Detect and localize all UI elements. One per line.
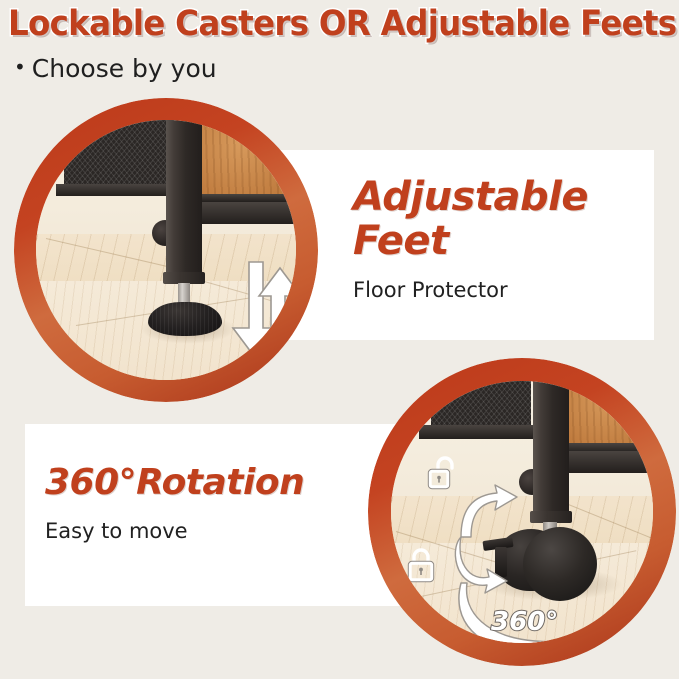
shelf-leg-2	[533, 381, 569, 517]
up-down-arrows-icon	[231, 260, 296, 365]
metal-mesh-panel	[64, 120, 174, 192]
rotation-badge: 360°	[491, 609, 558, 635]
photo-scene-2: 360°	[391, 381, 653, 643]
shelf-frame-bar-lower-2	[557, 451, 653, 473]
photo-scene	[36, 120, 296, 380]
adjustable-feet-title: AdjustableFeet	[353, 175, 588, 263]
wood-shelf-board-2	[559, 381, 653, 448]
shelf-leg	[166, 120, 202, 278]
header: Lockable Casters OR Adjustable Feets •Ch…	[0, 0, 679, 92]
page-subtitle-text: Choose by you	[32, 54, 217, 83]
adjustable-feet-photo	[14, 98, 318, 402]
rotation-title: 360°Rotation	[45, 462, 304, 504]
mesh-frame-bar-2	[419, 425, 539, 439]
adjustable-foot-pad	[148, 302, 222, 336]
page-subtitle: •Choose by you	[14, 52, 217, 84]
rotation-text: 360°Rotation Easy to move	[45, 462, 304, 544]
rotation-subtitle: Easy to move	[45, 518, 304, 544]
photo-inner-2: 360°	[391, 381, 653, 643]
lock-icon	[407, 547, 443, 585]
infographic-stage: Lockable Casters OR Adjustable Feets •Ch…	[0, 0, 679, 679]
photo-inner	[36, 120, 296, 380]
bullet-glyph: •	[14, 52, 26, 82]
rotation-photo: 360°	[368, 358, 676, 666]
adjustable-feet-subtitle: Floor Protector	[353, 277, 588, 303]
wood-shelf-board	[186, 120, 296, 195]
mesh-frame-bar	[56, 184, 181, 196]
page-title: Lockable Casters OR Adjustable Feets	[8, 4, 629, 44]
adjustable-feet-text: AdjustableFeet Floor Protector	[353, 175, 588, 303]
